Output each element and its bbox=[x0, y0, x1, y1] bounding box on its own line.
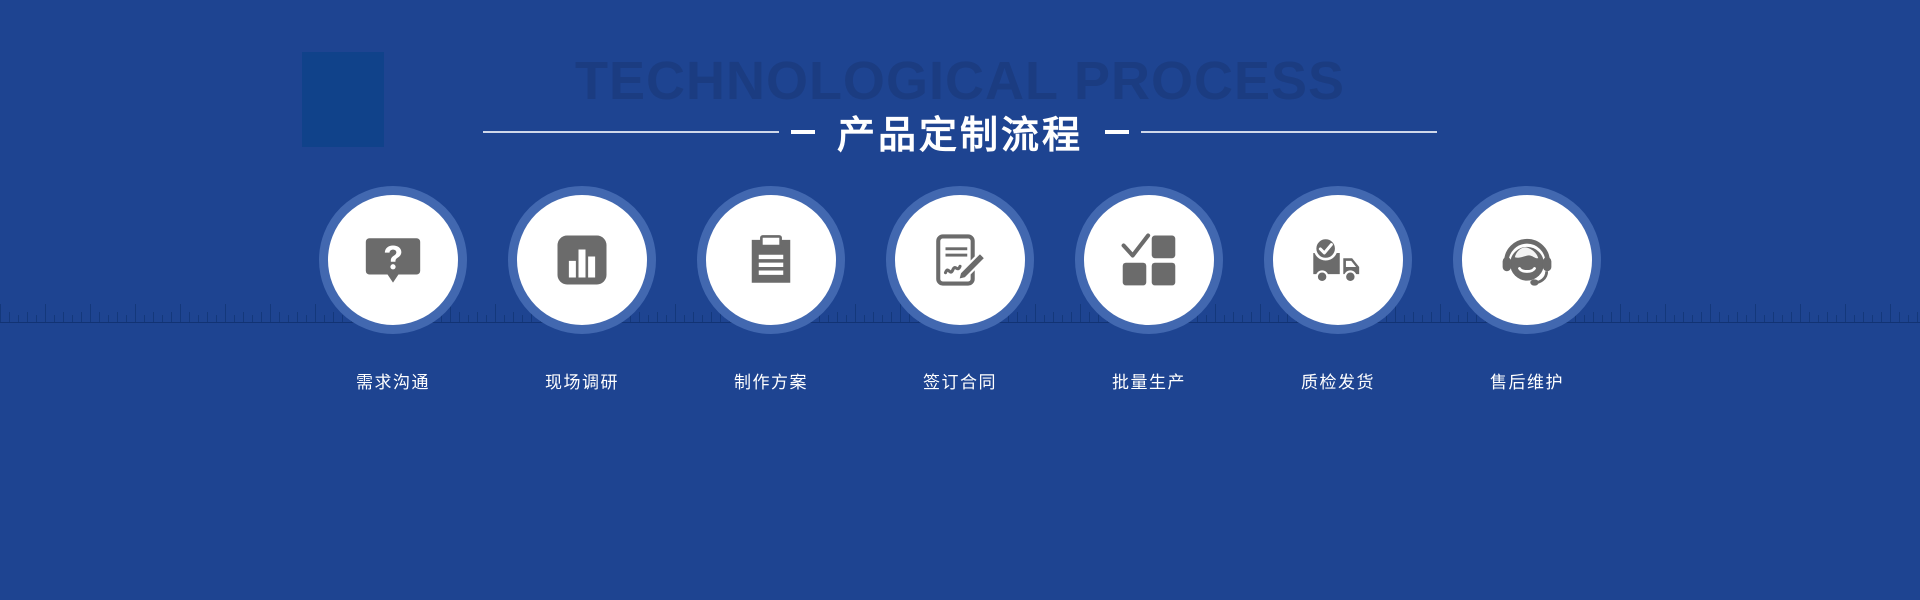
process-step-4[interactable]: 签订合同 bbox=[886, 186, 1034, 393]
title-rule-right bbox=[1141, 131, 1437, 133]
question-bubble-icon bbox=[364, 231, 422, 289]
step-label-3: 制作方案 bbox=[734, 368, 808, 393]
step-label-1: 需求沟通 bbox=[356, 368, 430, 393]
process-step-2[interactable]: 现场调研 bbox=[508, 186, 656, 393]
document-signature-icon bbox=[931, 231, 989, 289]
bar-chart-icon bbox=[554, 232, 610, 288]
banner-header: TECHNOLOGICAL PROCESS 产品定制流程 bbox=[0, 0, 1920, 200]
page-title: 产品定制流程 bbox=[827, 104, 1093, 159]
checked-blocks-icon bbox=[1120, 231, 1178, 289]
process-step-7[interactable]: 售后维护 bbox=[1453, 186, 1601, 393]
chinese-title-row: 产品定制流程 bbox=[0, 104, 1920, 159]
step-label-6: 质检发货 bbox=[1301, 368, 1375, 393]
title-rule-left bbox=[483, 131, 779, 133]
step-circle-4[interactable] bbox=[886, 186, 1034, 334]
headset-support-icon bbox=[1497, 230, 1557, 290]
step-label-5: 批量生产 bbox=[1112, 368, 1186, 393]
delivery-truck-check-icon bbox=[1308, 230, 1368, 290]
step-circle-3[interactable] bbox=[697, 186, 845, 334]
process-steps: 需求沟通 现场调研 bbox=[0, 186, 1920, 446]
step-label-7: 售后维护 bbox=[1490, 368, 1564, 393]
title-dash-right bbox=[1105, 130, 1129, 134]
step-label-2: 现场调研 bbox=[545, 368, 619, 393]
step-circle-6[interactable] bbox=[1264, 186, 1412, 334]
process-step-1[interactable]: 需求沟通 bbox=[319, 186, 467, 393]
process-banner: TECHNOLOGICAL PROCESS 产品定制流程 需求沟通 bbox=[0, 0, 1920, 600]
english-title: TECHNOLOGICAL PROCESS bbox=[0, 50, 1920, 112]
process-step-6[interactable]: 质检发货 bbox=[1264, 186, 1412, 393]
process-step-3[interactable]: 制作方案 bbox=[697, 186, 845, 393]
step-circle-7[interactable] bbox=[1453, 186, 1601, 334]
title-dash-left bbox=[791, 130, 815, 134]
clipboard-icon bbox=[743, 232, 799, 288]
step-circle-1[interactable] bbox=[319, 186, 467, 334]
step-label-4: 签订合同 bbox=[923, 368, 997, 393]
step-circle-5[interactable] bbox=[1075, 186, 1223, 334]
process-step-5[interactable]: 批量生产 bbox=[1075, 186, 1223, 393]
step-circle-2[interactable] bbox=[508, 186, 656, 334]
